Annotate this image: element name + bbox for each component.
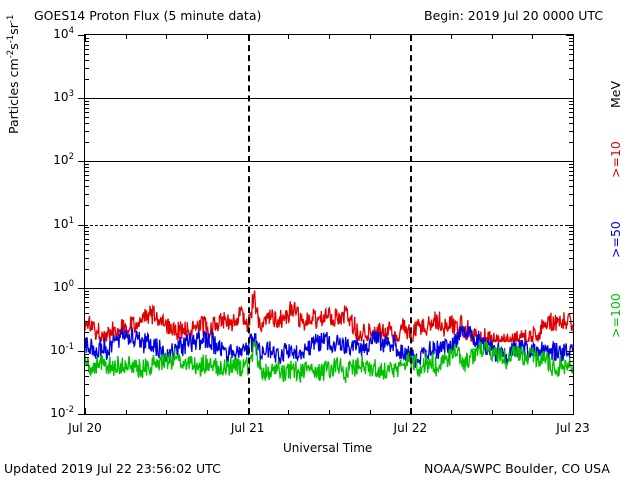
y-axis-minor-tick bbox=[85, 117, 89, 118]
y-axis-minor-tick bbox=[85, 361, 89, 362]
x-axis-tick-label: Jul 23 bbox=[549, 421, 597, 435]
y-axis-minor-tick bbox=[569, 307, 573, 308]
y-axis-minor-tick bbox=[569, 142, 573, 143]
y-axis-tick bbox=[78, 351, 85, 352]
x-axis-tick bbox=[85, 35, 86, 41]
y-axis-minor-tick bbox=[569, 365, 573, 366]
y-axis-tick-label: 104 bbox=[53, 26, 74, 41]
y-axis-minor-tick bbox=[85, 60, 89, 61]
x-axis-tick bbox=[573, 35, 574, 41]
y-axis-tick bbox=[78, 225, 85, 226]
y-axis-minor-tick bbox=[569, 258, 573, 259]
y-axis-minor-tick bbox=[569, 361, 573, 362]
x-axis-minor-tick bbox=[370, 35, 371, 39]
y-axis-minor-tick bbox=[569, 164, 573, 165]
x-axis-minor-tick bbox=[126, 410, 127, 414]
x-axis-tick bbox=[248, 408, 249, 414]
x-axis-title: Universal Time bbox=[283, 441, 372, 455]
y-axis-minor-tick bbox=[569, 294, 573, 295]
y-axis-tick bbox=[566, 225, 573, 226]
gridline-horizontal bbox=[85, 98, 573, 99]
y-axis-minor-tick bbox=[569, 302, 573, 303]
y-axis-minor-tick bbox=[85, 45, 89, 46]
y-axis-minor-tick bbox=[85, 186, 89, 187]
y-axis-minor-tick bbox=[85, 49, 89, 50]
x-axis-tick-label: Jul 20 bbox=[61, 421, 109, 435]
y-axis-minor-tick bbox=[569, 131, 573, 132]
y-axis-minor-tick bbox=[569, 205, 573, 206]
y-axis-minor-tick bbox=[569, 112, 573, 113]
y-axis-minor-tick bbox=[569, 49, 573, 50]
y-axis-tick-label: 100 bbox=[53, 279, 74, 294]
y-axis-tick bbox=[78, 161, 85, 162]
x-axis-tick-label: Jul 22 bbox=[386, 421, 434, 435]
y-axis-minor-tick bbox=[85, 164, 89, 165]
trace--10-mev bbox=[85, 291, 573, 342]
y-axis-minor-tick bbox=[85, 68, 89, 69]
y-axis-minor-tick bbox=[569, 175, 573, 176]
y-axis-tick bbox=[78, 414, 85, 415]
y-axis-minor-tick bbox=[569, 41, 573, 42]
y-axis-minor-tick bbox=[569, 332, 573, 333]
y-axis-minor-tick bbox=[85, 239, 89, 240]
y-axis-minor-tick bbox=[569, 60, 573, 61]
y-axis-minor-tick bbox=[569, 171, 573, 172]
y-axis-tick-label: 103 bbox=[53, 89, 74, 104]
y-axis-tick bbox=[78, 288, 85, 289]
page-title: GOES14 Proton Flux (5 minute data) bbox=[34, 8, 261, 23]
y-axis-tick-label: 10-2 bbox=[50, 405, 74, 420]
y-axis-minor-tick bbox=[85, 167, 89, 168]
legend-ge10-label: >=10 bbox=[608, 141, 623, 178]
y-axis-minor-tick bbox=[85, 291, 89, 292]
y-axis-minor-tick bbox=[85, 370, 89, 371]
x-axis-minor-tick bbox=[166, 410, 167, 414]
y-axis-minor-tick bbox=[85, 171, 89, 172]
y-axis-minor-tick bbox=[85, 307, 89, 308]
y-axis-tick-label: 102 bbox=[53, 152, 74, 167]
x-axis-tick bbox=[410, 35, 411, 41]
x-axis-minor-tick bbox=[207, 35, 208, 39]
y-axis-minor-tick bbox=[85, 227, 89, 228]
legend-ge50-label: >=50 bbox=[608, 221, 623, 258]
y-axis-minor-tick bbox=[569, 79, 573, 80]
y-axis-minor-tick bbox=[569, 68, 573, 69]
y-axis-minor-tick bbox=[85, 123, 89, 124]
y-axis-minor-tick bbox=[85, 395, 89, 396]
y-axis-minor-tick bbox=[569, 123, 573, 124]
x-axis-minor-tick bbox=[288, 410, 289, 414]
y-axis-minor-tick bbox=[85, 108, 89, 109]
y-axis-minor-tick bbox=[85, 112, 89, 113]
y-axis-minor-tick bbox=[569, 354, 573, 355]
x-axis-minor-tick bbox=[288, 35, 289, 39]
x-axis-minor-tick bbox=[126, 35, 127, 39]
x-axis-minor-tick bbox=[329, 35, 330, 39]
y-axis-minor-tick bbox=[85, 365, 89, 366]
y-axis-minor-tick bbox=[569, 227, 573, 228]
y-axis-tick bbox=[566, 351, 573, 352]
y-axis-minor-tick bbox=[85, 194, 89, 195]
y-axis-minor-tick bbox=[569, 313, 573, 314]
y-axis-minor-tick bbox=[569, 101, 573, 102]
x-axis-tick bbox=[85, 408, 86, 414]
begin-time-label: Begin: 2019 Jul 20 0000 UTC bbox=[424, 8, 603, 23]
y-axis-minor-tick bbox=[569, 194, 573, 195]
y-axis-minor-tick bbox=[85, 313, 89, 314]
y-axis-minor-tick bbox=[569, 297, 573, 298]
y-axis-minor-tick bbox=[85, 384, 89, 385]
y-axis-minor-tick bbox=[569, 370, 573, 371]
y-axis-minor-tick bbox=[569, 321, 573, 322]
y-axis-minor-tick bbox=[85, 244, 89, 245]
y-axis-minor-tick bbox=[569, 244, 573, 245]
y-axis-minor-tick bbox=[569, 54, 573, 55]
y-axis-tick-label: 101 bbox=[53, 216, 74, 231]
y-axis-minor-tick bbox=[85, 180, 89, 181]
x-axis-tick-label: Jul 21 bbox=[224, 421, 272, 435]
x-axis-minor-tick bbox=[532, 410, 533, 414]
y-axis-tick bbox=[78, 35, 85, 36]
y-axis-minor-tick bbox=[569, 231, 573, 232]
legend-ge100-label: >=100 bbox=[608, 293, 623, 338]
y-axis-minor-tick bbox=[569, 186, 573, 187]
y-axis-minor-tick bbox=[85, 205, 89, 206]
y-axis-minor-tick bbox=[569, 180, 573, 181]
y-axis-minor-tick bbox=[85, 297, 89, 298]
y-axis-minor-tick bbox=[85, 131, 89, 132]
x-axis-minor-tick bbox=[370, 410, 371, 414]
y-axis-minor-tick bbox=[85, 294, 89, 295]
y-axis-minor-tick bbox=[85, 302, 89, 303]
x-axis-minor-tick bbox=[451, 35, 452, 39]
y-axis-minor-tick bbox=[85, 321, 89, 322]
y-axis-minor-tick bbox=[85, 41, 89, 42]
y-axis-minor-tick bbox=[569, 384, 573, 385]
x-axis-tick bbox=[248, 35, 249, 41]
y-axis-minor-tick bbox=[569, 291, 573, 292]
x-axis-minor-tick bbox=[532, 35, 533, 39]
gridline-horizontal bbox=[85, 161, 573, 162]
y-axis-minor-tick bbox=[85, 79, 89, 80]
y-axis-minor-tick bbox=[85, 354, 89, 355]
legend-units-label: MeV bbox=[608, 81, 623, 108]
x-axis-tick bbox=[410, 408, 411, 414]
y-axis-minor-tick bbox=[569, 104, 573, 105]
y-axis-minor-tick bbox=[569, 357, 573, 358]
y-axis-minor-tick bbox=[85, 231, 89, 232]
y-axis-tick bbox=[566, 35, 573, 36]
y-axis-minor-tick bbox=[569, 234, 573, 235]
y-axis-minor-tick bbox=[569, 250, 573, 251]
gridline-horizontal bbox=[85, 288, 573, 289]
y-axis-minor-tick bbox=[569, 117, 573, 118]
updated-timestamp: Updated 2019 Jul 22 23:56:02 UTC bbox=[4, 461, 221, 476]
y-axis-minor-tick bbox=[85, 258, 89, 259]
x-axis-minor-tick bbox=[451, 410, 452, 414]
x-axis-tick bbox=[573, 408, 574, 414]
gridline-horizontal bbox=[85, 225, 573, 226]
y-axis-minor-tick bbox=[85, 175, 89, 176]
plot-area bbox=[84, 34, 574, 415]
y-axis-title: Particles cm-2s-1sr-1 bbox=[6, 15, 21, 134]
x-axis-minor-tick bbox=[492, 35, 493, 39]
y-axis-tick bbox=[566, 98, 573, 99]
y-axis-tick bbox=[566, 161, 573, 162]
y-axis-minor-tick bbox=[85, 357, 89, 358]
y-axis-minor-tick bbox=[569, 269, 573, 270]
y-axis-minor-tick bbox=[85, 250, 89, 251]
y-axis-minor-tick bbox=[85, 101, 89, 102]
y-axis-minor-tick bbox=[569, 395, 573, 396]
y-axis-minor-tick bbox=[569, 108, 573, 109]
y-axis-minor-tick bbox=[569, 239, 573, 240]
gridline-vertical bbox=[410, 35, 412, 414]
y-axis-tick bbox=[566, 288, 573, 289]
y-axis-tick-label: 10-1 bbox=[50, 342, 74, 357]
y-axis-minor-tick bbox=[85, 54, 89, 55]
y-axis-minor-tick bbox=[85, 234, 89, 235]
x-axis-minor-tick bbox=[329, 410, 330, 414]
y-axis-minor-tick bbox=[569, 45, 573, 46]
source-credit: NOAA/SWPC Boulder, CO USA bbox=[424, 461, 610, 476]
y-axis-minor-tick bbox=[569, 167, 573, 168]
y-axis-minor-tick bbox=[85, 376, 89, 377]
x-axis-minor-tick bbox=[166, 35, 167, 39]
x-axis-minor-tick bbox=[207, 410, 208, 414]
y-axis-minor-tick bbox=[569, 376, 573, 377]
y-axis-minor-tick bbox=[85, 142, 89, 143]
y-axis-minor-tick bbox=[85, 104, 89, 105]
gridline-vertical bbox=[248, 35, 250, 414]
y-axis-minor-tick bbox=[85, 332, 89, 333]
x-axis-minor-tick bbox=[492, 410, 493, 414]
y-axis-tick bbox=[566, 414, 573, 415]
y-axis-minor-tick bbox=[85, 269, 89, 270]
trace--100-mev bbox=[85, 342, 573, 383]
y-axis-tick bbox=[78, 98, 85, 99]
proton-flux-plot: GOES14 Proton Flux (5 minute data) Begin… bbox=[0, 0, 640, 480]
